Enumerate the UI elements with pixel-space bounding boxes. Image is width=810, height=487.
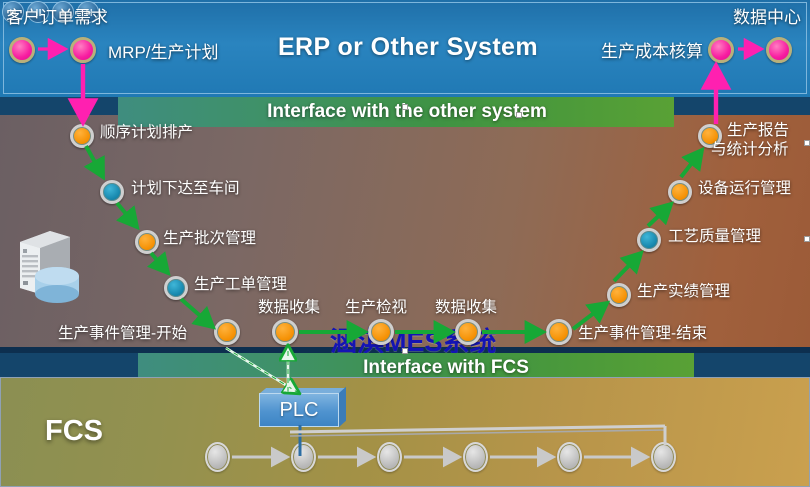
label-performance-management: 生产实绩管理: [637, 283, 730, 301]
node-sequence-planning[interactable]: [70, 124, 94, 148]
plc-box[interactable]: PLC: [259, 388, 349, 428]
erp-title: ERP or Other System: [258, 33, 558, 62]
plc-box-face: PLC: [259, 393, 339, 427]
selection-handle-right-upper[interactable]: [804, 140, 810, 146]
node-process-quality[interactable]: [637, 228, 661, 252]
fcs-panel: [0, 377, 810, 487]
node-event-start[interactable]: [214, 319, 240, 345]
node-batch-management[interactable]: [135, 230, 159, 254]
node-mrp-plan[interactable]: [70, 37, 96, 63]
label-equipment-operation: 设备运行管理: [698, 180, 791, 198]
fcs-node-2[interactable]: [291, 442, 316, 472]
fcs-node-4[interactable]: [463, 442, 488, 472]
label-event-start: 生产事件管理-开始: [58, 325, 187, 343]
fcs-label: FCS: [45, 415, 103, 448]
node-customer-order[interactable]: [9, 37, 35, 63]
node-data-center[interactable]: [766, 37, 792, 63]
plc-label: PLC: [280, 399, 319, 422]
label-data-collect-1: 数据收集: [258, 299, 320, 317]
label-work-order-management: 生产工单管理: [194, 276, 287, 294]
plc-box-side: [339, 387, 346, 427]
label-data-center: 数据中心: [733, 8, 801, 28]
label-production-inspection: 生产检视: [345, 299, 407, 317]
fcs-node-1[interactable]: [205, 442, 230, 472]
fcs-node-6[interactable]: [651, 442, 676, 472]
node-production-inspection[interactable]: [368, 319, 394, 345]
label-production-report-line1: 生产报告: [727, 122, 789, 140]
label-event-end: 生产事件管理-结束: [578, 325, 707, 343]
selection-handle-bottom[interactable]: [402, 348, 408, 354]
node-plan-to-workshop[interactable]: [100, 180, 124, 204]
node-work-order-management[interactable]: [164, 276, 188, 300]
node-data-collect-2[interactable]: [455, 319, 481, 345]
label-process-quality: 工艺质量管理: [668, 228, 761, 246]
interface-bar-top: Interface with the other system: [118, 97, 674, 127]
fcs-node-5[interactable]: [557, 442, 582, 472]
node-data-collect-1[interactable]: [272, 319, 298, 345]
label-customer-order: 客户订单需求: [6, 8, 108, 28]
presentation-slide: ERP or Other System 客户订单需求 MRP/生产计划 生产成本…: [0, 0, 810, 487]
label-mrp-plan: MRP/生产计划: [108, 43, 219, 63]
node-equipment-operation[interactable]: [668, 180, 692, 204]
selection-handle-top-right[interactable]: [516, 112, 522, 118]
interface-bar-top-label: Interface with the other system: [245, 101, 547, 123]
selection-handle-top[interactable]: [402, 104, 408, 110]
node-performance-management[interactable]: [607, 283, 631, 307]
label-cost-accounting: 生产成本核算: [601, 42, 703, 62]
node-cost-accounting[interactable]: [708, 37, 734, 63]
label-data-collect-2: 数据收集: [435, 299, 497, 317]
label-batch-management: 生产批次管理: [163, 230, 256, 248]
node-event-end[interactable]: [546, 319, 572, 345]
selection-handle-right-lower[interactable]: [804, 236, 810, 242]
interface-bar-bottom-label: Interface with FCS: [303, 357, 529, 379]
label-plan-to-workshop: 计划下达至车间: [131, 180, 240, 198]
server-database-icon: [8, 222, 86, 304]
label-sequence-planning: 顺序计划排产: [100, 124, 193, 142]
fcs-node-3[interactable]: [377, 442, 402, 472]
label-production-report-line2: 与统计分析: [711, 141, 789, 159]
